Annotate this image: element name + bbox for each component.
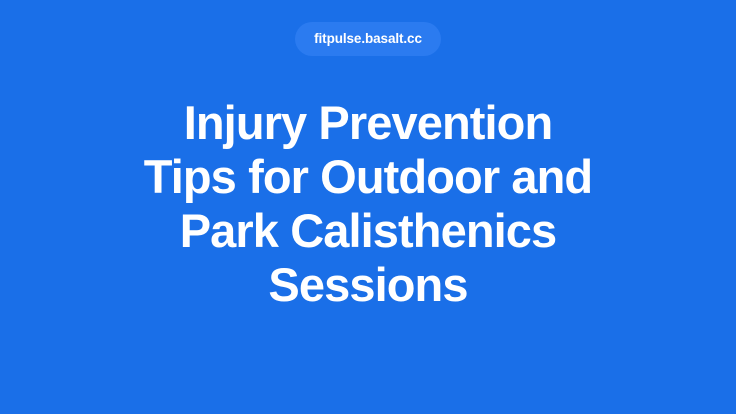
page-title-line-3: Park Calisthenics	[48, 204, 688, 258]
domain-badge[interactable]: fitpulse.basalt.cc	[295, 22, 441, 56]
page-title-line-2: Tips for Outdoor and	[48, 150, 688, 204]
page-title-line-4: Sessions	[48, 258, 688, 312]
page-title: Injury Prevention Tips for Outdoor and P…	[48, 96, 688, 312]
domain-badge-label: fitpulse.basalt.cc	[314, 32, 422, 46]
page-title-line-1: Injury Prevention	[48, 96, 688, 150]
poster-canvas: fitpulse.basalt.cc Injury Prevention Tip…	[0, 0, 736, 414]
badge-row: fitpulse.basalt.cc	[0, 22, 736, 56]
